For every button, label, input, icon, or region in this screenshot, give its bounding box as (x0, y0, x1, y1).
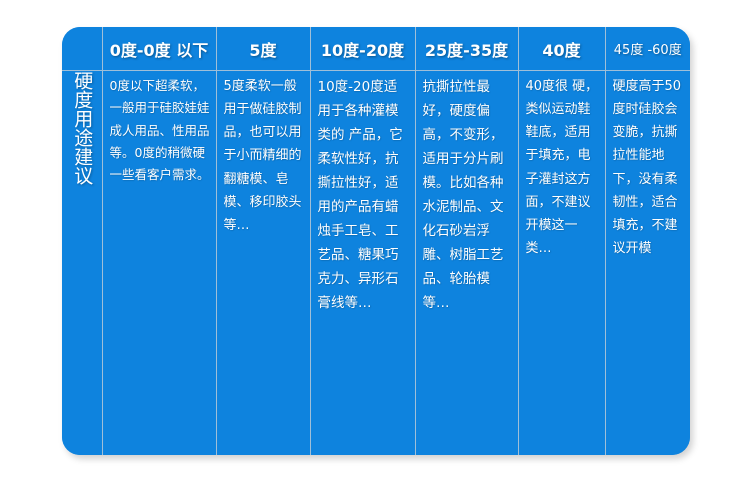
table-header-0-degree: 0度-0度 以下 (102, 27, 216, 71)
table-header-corner (62, 27, 102, 71)
table-header-5-degree: 5度 (216, 27, 310, 71)
table-header-40-degree: 40度 (518, 27, 605, 71)
table-header-10-20-degree: 10度-20度 (310, 27, 415, 71)
table-body-row: 硬度用途建议 0度以下超柔软，一般用于硅胶娃娃成人用品、性用品等。0度的稍微硬一… (62, 71, 690, 456)
page-root: 0度-0度 以下 5度 10度-20度 25度-35度 40度 45度 -60度… (0, 0, 750, 483)
cell-0-degree: 0度以下超柔软，一般用于硅胶娃娃成人用品、性用品等。0度的稍微硬一些看客户需求。 (102, 71, 216, 456)
cell-5-degree-text: 5度柔软一般用于做硅胶制品，也可以用于小而精细的翻糖模、皂模、移印胶头等… (217, 71, 310, 241)
cell-25-35-degree-text: 抗撕拉性最好，硬度偏高，不变形，适用于分片刷模。比如各种水泥制品、文化石砂岩浮雕… (416, 71, 518, 319)
hardness-usage-table: 0度-0度 以下 5度 10度-20度 25度-35度 40度 45度 -60度… (62, 27, 690, 455)
row-label-cell: 硬度用途建议 (62, 71, 102, 456)
cell-10-20-degree-text: 10度-20度适用于各种灌模类的 产品，它柔软性好，抗撕拉性好，适用的产品有蜡烛… (311, 71, 415, 319)
cell-40-degree: 40度很 硬，类似运动鞋鞋底，适用于填充，电子灌封这方面，不建议开模这一类… (518, 71, 605, 456)
table-header-row: 0度-0度 以下 5度 10度-20度 25度-35度 40度 45度 -60度 (62, 27, 690, 71)
cell-10-20-degree: 10度-20度适用于各种灌模类的 产品，它柔软性好，抗撕拉性好，适用的产品有蜡烛… (310, 71, 415, 456)
table-header-25-35-degree: 25度-35度 (415, 27, 518, 71)
hardness-table-grid: 0度-0度 以下 5度 10度-20度 25度-35度 40度 45度 -60度… (62, 27, 690, 455)
cell-25-35-degree: 抗撕拉性最好，硬度偏高，不变形，适用于分片刷模。比如各种水泥制品、文化石砂岩浮雕… (415, 71, 518, 456)
cell-0-degree-text: 0度以下超柔软，一般用于硅胶娃娃成人用品、性用品等。0度的稍微硬一些看客户需求。 (103, 71, 216, 190)
cell-45-60-degree: 硬度高于50度时硅胶会变脆，抗撕拉性能地下，没有柔韧性，适合填充，不建议开模 (605, 71, 690, 456)
table-header-45-60-degree: 45度 -60度 (605, 27, 690, 71)
row-label-text: 硬度用途建议 (67, 71, 96, 185)
cell-40-degree-text: 40度很 硬，类似运动鞋鞋底，适用于填充，电子灌封这方面，不建议开模这一类… (519, 71, 605, 264)
cell-5-degree: 5度柔软一般用于做硅胶制品，也可以用于小而精细的翻糖模、皂模、移印胶头等… (216, 71, 310, 456)
cell-45-60-degree-text: 硬度高于50度时硅胶会变脆，抗撕拉性能地下，没有柔韧性，适合填充，不建议开模 (606, 71, 691, 264)
